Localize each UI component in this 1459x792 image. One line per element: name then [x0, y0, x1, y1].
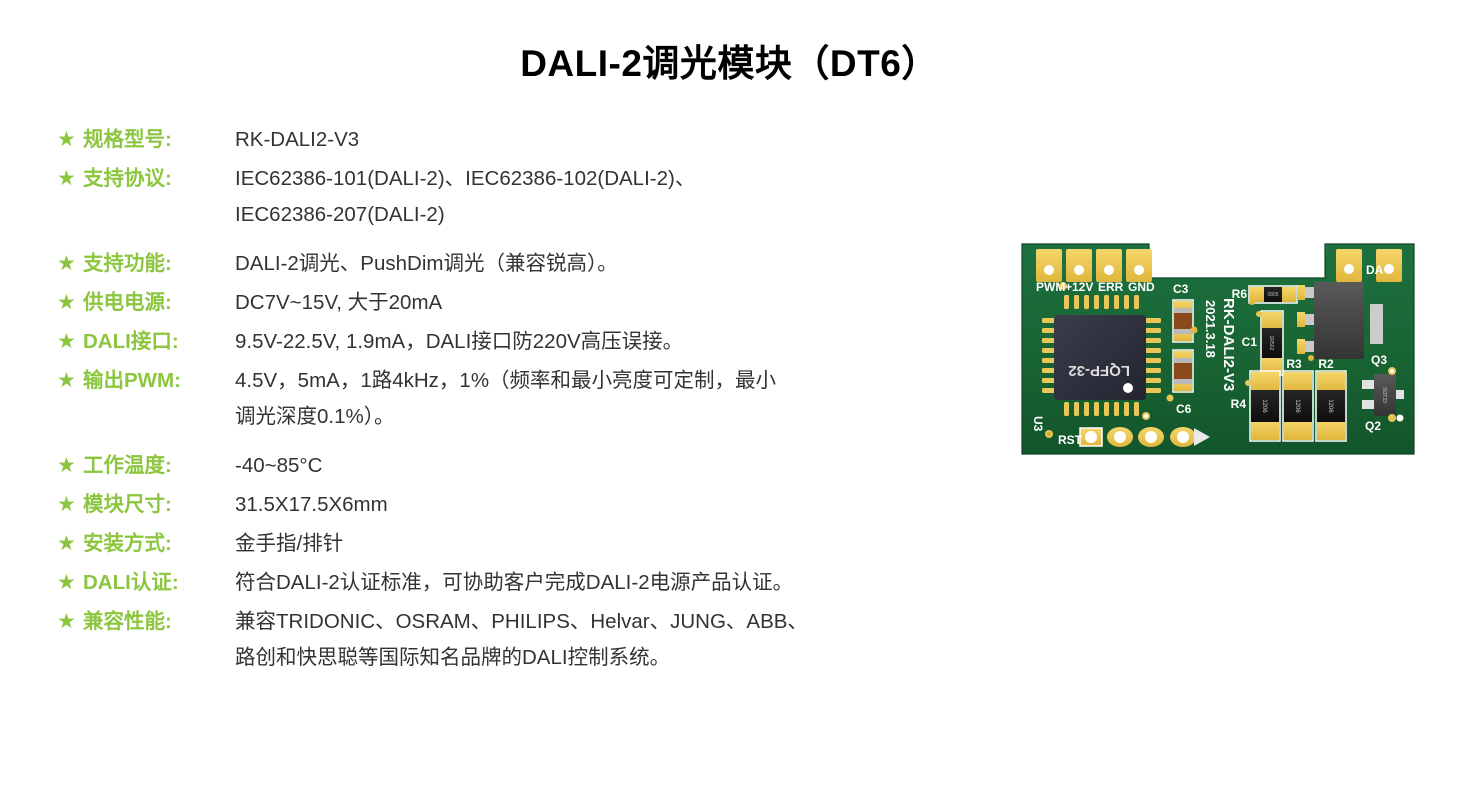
silk-q2: Q2: [1365, 419, 1381, 433]
spec-label-mounting: 安装方式:: [83, 526, 235, 562]
pcb-board-graphic: 0805 1R502: [1018, 238, 1418, 460]
spec-row-operating-temperature: ★ 工作温度: -40~85°C: [57, 448, 957, 484]
pcb-module-image: 0805 1R502: [1018, 238, 1418, 460]
spec-line: 兼容TRIDONIC、OSRAM、PHILIPS、Helvar、JUNG、ABB…: [235, 604, 957, 640]
spec-line: 符合DALI-2认证标准，可协助客户完成DALI-2电源产品认证。: [235, 565, 957, 601]
spec-value-model: RK-DALI2-V3: [235, 122, 957, 158]
spec-value-mounting: 金手指/排针: [235, 526, 957, 562]
silk-c6: C6: [1176, 402, 1192, 416]
spec-value-compatibility: 兼容TRIDONIC、OSRAM、PHILIPS、Helvar、JUNG、ABB…: [235, 604, 957, 676]
star-icon: ★: [57, 604, 83, 640]
spec-row-protocols: ★ 支持协议: IEC62386-101(DALI-2)、IEC62386-10…: [57, 161, 957, 233]
silk-board-date: 2021.3.18: [1203, 300, 1218, 358]
silk-c1: C1: [1242, 335, 1258, 349]
spec-value-dimensions: 31.5X17.5X6mm: [235, 487, 957, 523]
star-icon: ★: [57, 487, 83, 523]
svg-text:SOT23: SOT23: [1381, 387, 1387, 403]
spec-line: IEC62386-207(DALI-2): [235, 197, 957, 233]
spec-line: 调光深度0.1%）。: [235, 399, 957, 435]
spec-row-dimensions: ★ 模块尺寸: 31.5X17.5X6mm: [57, 487, 957, 523]
spec-line: 路创和快思聪等国际知名品牌的DALI控制系统。: [235, 640, 957, 676]
spec-label-dimensions: 模块尺寸:: [83, 487, 235, 523]
svg-text:1R502: 1R502: [1268, 336, 1274, 351]
spec-label-protocols: 支持协议:: [83, 161, 235, 197]
spec-label-operating-temperature: 工作温度:: [83, 448, 235, 484]
svg-text:1206: 1206: [1261, 399, 1267, 413]
spec-row-mounting: ★ 安装方式: 金手指/排针: [57, 526, 957, 562]
spec-line: DALI-2调光、PushDim调光（兼容锐高）。: [235, 246, 957, 282]
spec-label-power-supply: 供电电源:: [83, 285, 235, 321]
spec-value-dali-interface: 9.5V-22.5V, 1.9mA，DALI接口防220V高压误接。: [235, 324, 957, 360]
spec-row-power-supply: ★ 供电电源: DC7V~15V, 大于20mA: [57, 285, 957, 321]
star-icon: ★: [57, 363, 83, 399]
silk-r4: R4: [1231, 397, 1247, 411]
silk-gnd: GND: [1128, 280, 1155, 294]
star-icon: ★: [57, 161, 83, 197]
spec-row-functions: ★ 支持功能: DALI-2调光、PushDim调光（兼容锐高）。: [57, 246, 957, 282]
silk-pwm: PWM: [1036, 280, 1065, 294]
spec-label-dali-interface: DALI接口:: [83, 324, 235, 360]
spec-value-functions: DALI-2调光、PushDim调光（兼容锐高）。: [235, 246, 957, 282]
specification-list: ★ 规格型号: RK-DALI2-V3 ★ 支持协议: IEC62386-101…: [57, 122, 957, 679]
spec-line: 9.5V-22.5V, 1.9mA，DALI接口防220V高压误接。: [235, 324, 957, 360]
star-icon: ★: [57, 526, 83, 562]
spec-label-pwm-output: 输出PWM:: [83, 363, 235, 399]
silk-da: DA: [1366, 263, 1384, 277]
spec-value-pwm-output: 4.5V，5mA，1路4kHz，1%（频率和最小亮度可定制，最小 调光深度0.1…: [235, 363, 957, 435]
spec-label-dali-certification: DALI认证:: [83, 565, 235, 601]
spec-row-pwm-output: ★ 输出PWM: 4.5V，5mA，1路4kHz，1%（频率和最小亮度可定制，最…: [57, 363, 957, 435]
spec-line: 31.5X17.5X6mm: [235, 487, 957, 523]
silk-c3: C3: [1173, 282, 1189, 296]
silk-r2: R2: [1318, 357, 1334, 371]
silk-rst: RST: [1058, 433, 1083, 447]
spec-row-dali-interface: ★ DALI接口: 9.5V-22.5V, 1.9mA，DALI接口防220V高…: [57, 324, 957, 360]
spec-row-model: ★ 规格型号: RK-DALI2-V3: [57, 122, 957, 158]
star-icon: ★: [57, 285, 83, 321]
spec-line: -40~85°C: [235, 448, 957, 484]
silk-12v: +12V: [1065, 280, 1093, 294]
spec-row-dali-certification: ★ DALI认证: 符合DALI-2认证标准，可协助客户完成DALI-2电源产品…: [57, 565, 957, 601]
star-icon: ★: [57, 565, 83, 601]
spec-label-compatibility: 兼容性能:: [83, 604, 235, 640]
spec-line: 金手指/排针: [235, 526, 957, 562]
spec-line: IEC62386-101(DALI-2)、IEC62386-102(DALI-2…: [235, 161, 957, 197]
spec-label-model: 规格型号:: [83, 122, 235, 158]
spec-line: RK-DALI2-V3: [235, 122, 957, 158]
spec-value-dali-certification: 符合DALI-2认证标准，可协助客户完成DALI-2电源产品认证。: [235, 565, 957, 601]
silk-chip-name: LQFP-32: [1068, 362, 1130, 379]
silk-r3: R3: [1286, 357, 1302, 371]
spec-line: 4.5V，5mA，1路4kHz，1%（频率和最小亮度可定制，最小: [235, 363, 957, 399]
spec-row-compatibility: ★ 兼容性能: 兼容TRIDONIC、OSRAM、PHILIPS、Helvar、…: [57, 604, 957, 676]
star-icon: ★: [57, 324, 83, 360]
star-icon: ★: [57, 448, 83, 484]
spec-value-protocols: IEC62386-101(DALI-2)、IEC62386-102(DALI-2…: [235, 161, 957, 233]
silk-board-name: RK-DALI2-V3: [1220, 298, 1237, 391]
silk-q3: Q3: [1371, 353, 1387, 367]
spec-value-power-supply: DC7V~15V, 大于20mA: [235, 285, 957, 321]
svg-text:0805: 0805: [1267, 292, 1278, 298]
silk-err: ERR: [1098, 280, 1124, 294]
svg-text:1206: 1206: [1327, 399, 1333, 413]
star-icon: ★: [57, 246, 83, 282]
page-title: DALI-2调光模块（DT6）: [0, 33, 1459, 87]
spec-line: DC7V~15V, 大于20mA: [235, 285, 957, 321]
spec-value-operating-temperature: -40~85°C: [235, 448, 957, 484]
star-icon: ★: [57, 122, 83, 158]
svg-text:1206: 1206: [1294, 399, 1300, 413]
silk-u3: U3: [1031, 416, 1045, 432]
spec-label-functions: 支持功能:: [83, 246, 235, 282]
